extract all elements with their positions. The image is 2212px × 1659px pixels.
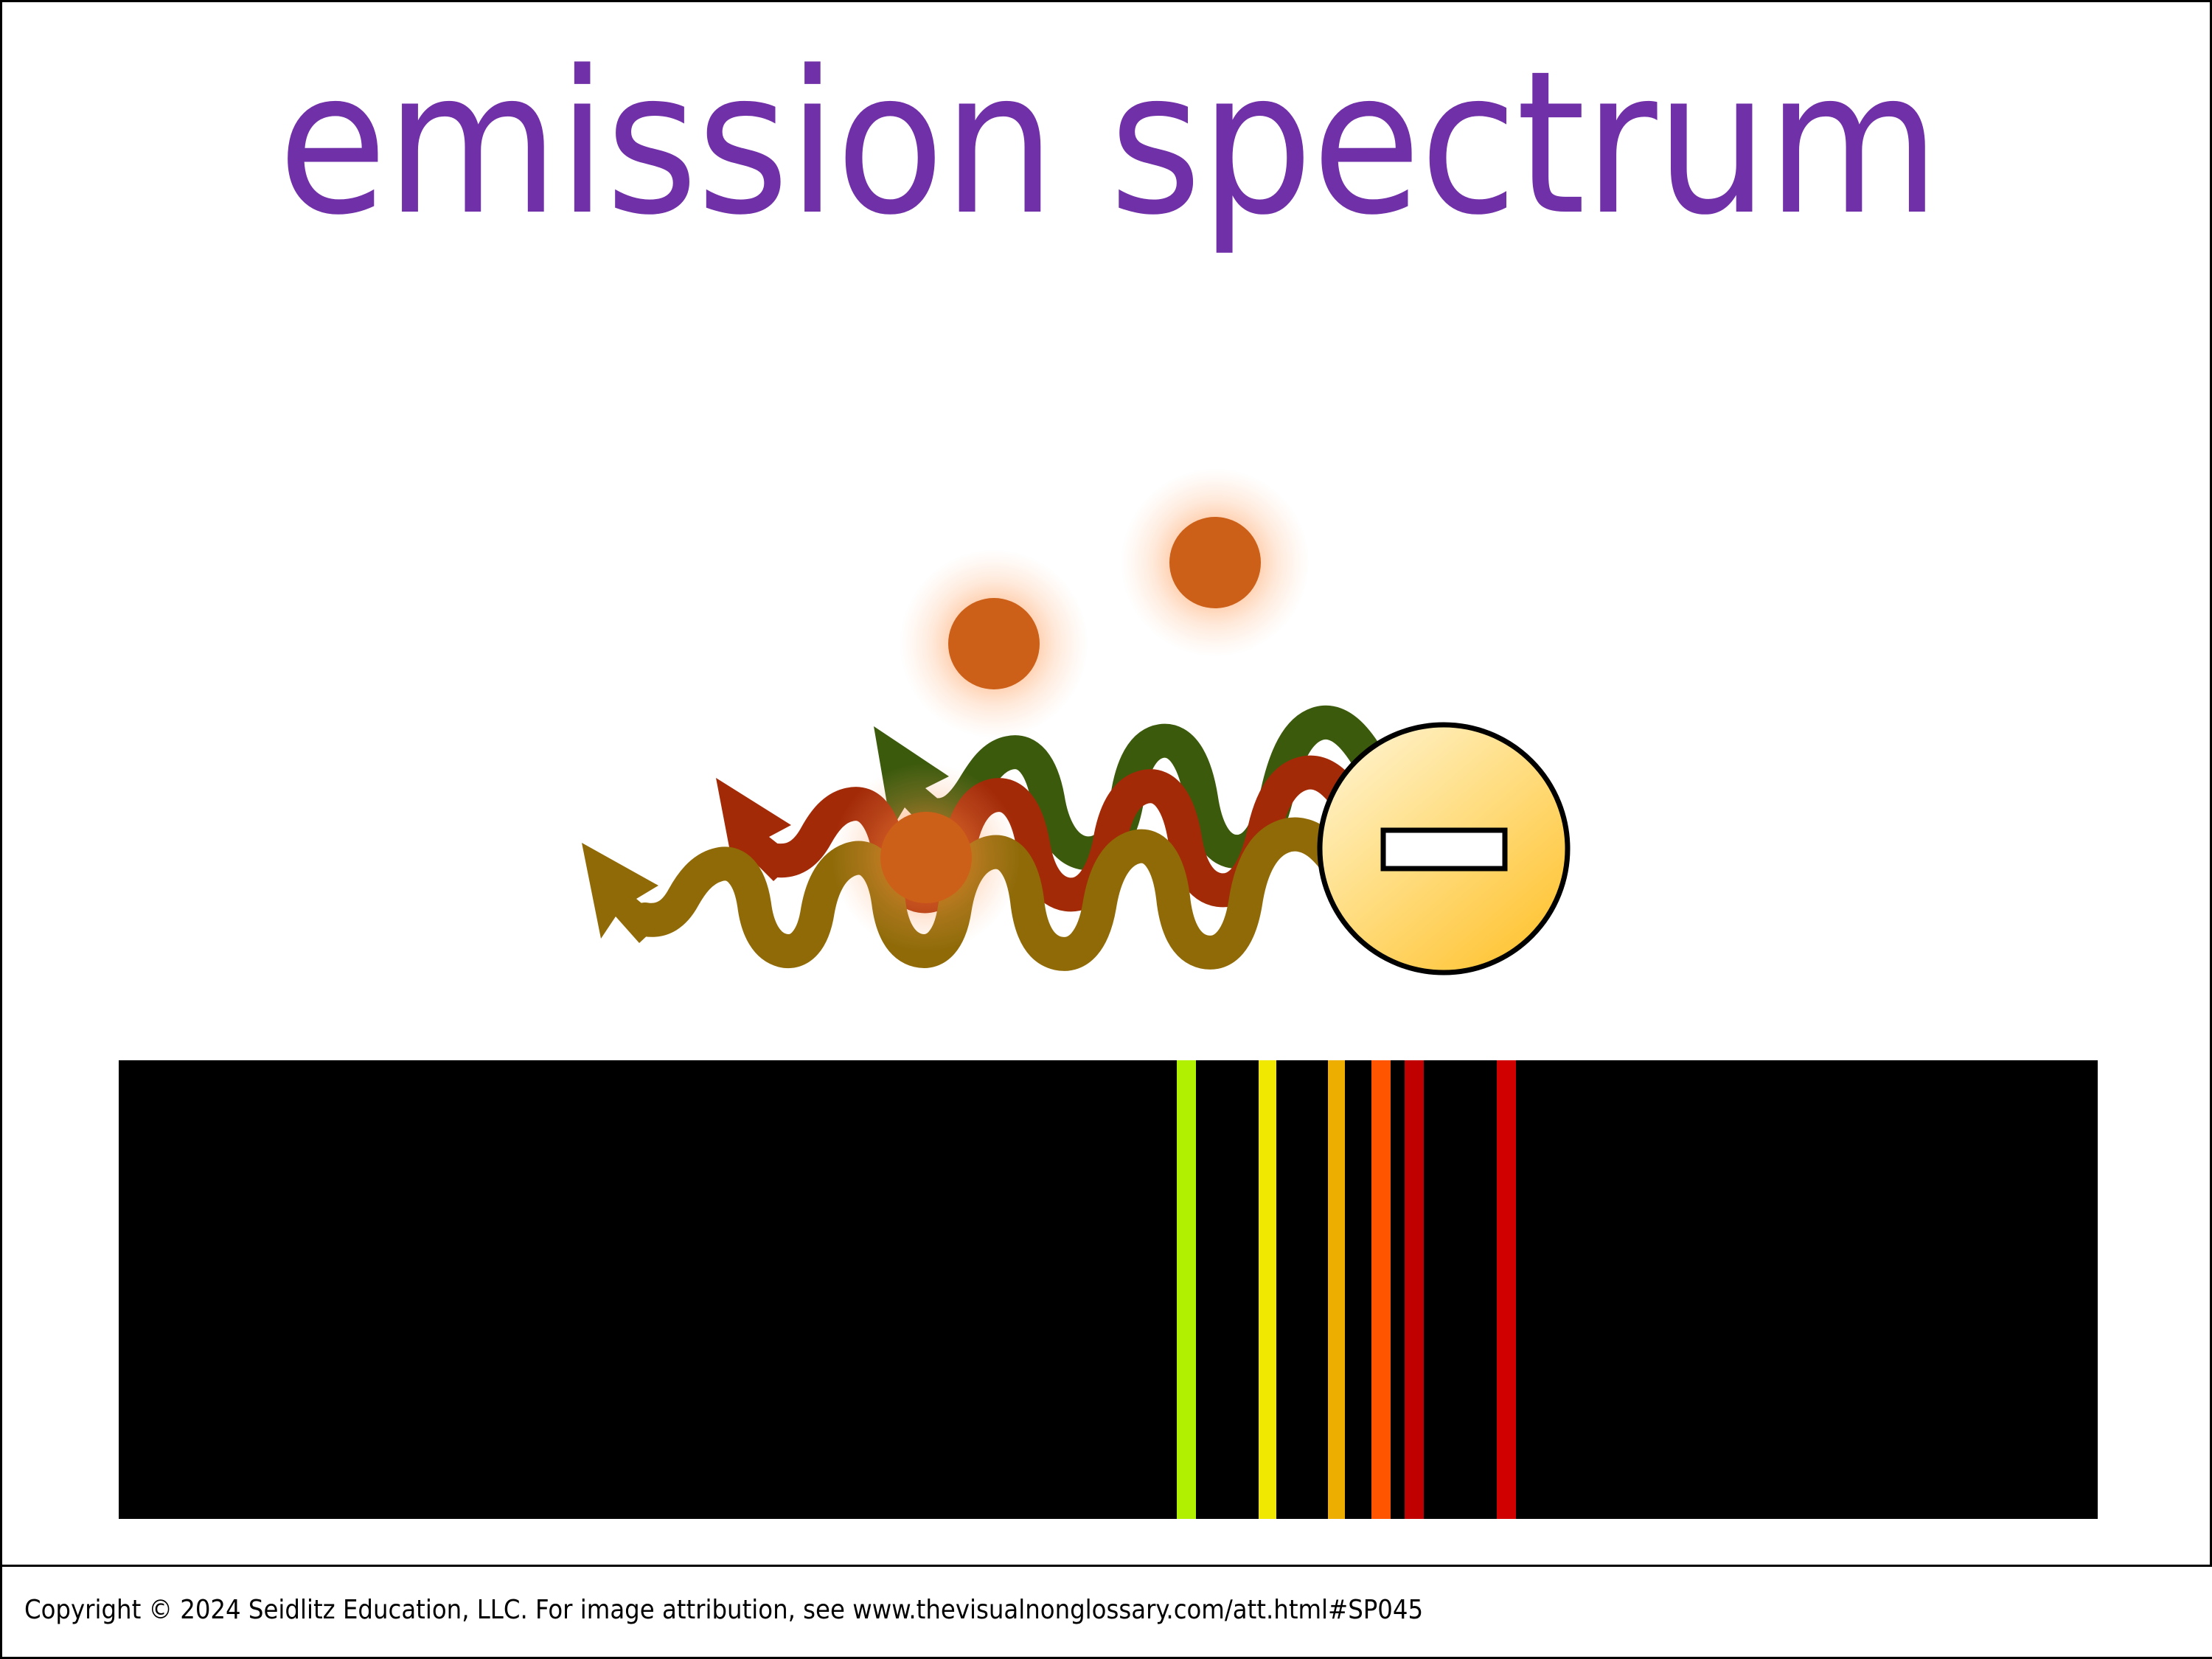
photon-red — [948, 598, 1040, 689]
dark-red-line — [1405, 1060, 1424, 1519]
illustration-svg — [2, 319, 2212, 1049]
yellow-green-line — [1177, 1060, 1196, 1519]
yellow-line — [1259, 1060, 1276, 1519]
slide-canvas: emission spectrum — [0, 0, 2212, 1659]
amber-line — [1328, 1060, 1345, 1519]
page-title: emission spectrum — [2, 45, 2212, 243]
orange-red-line — [1371, 1060, 1391, 1519]
copyright-attribution-text: Copyright © 2024 Seidlitz Education, LLC… — [24, 1595, 1423, 1625]
minus-sign-icon — [1383, 830, 1505, 869]
yellow-arrow-head — [582, 843, 663, 943]
photon-yellow — [880, 812, 972, 903]
photon-green — [1169, 517, 1261, 608]
emission-illustration — [2, 319, 2212, 1049]
footer: Copyright © 2024 Seidlitz Education, LLC… — [2, 1565, 2212, 1657]
red-line — [1497, 1060, 1516, 1519]
emission-spectrum-panel — [119, 1060, 2098, 1519]
electron — [1320, 725, 1568, 973]
